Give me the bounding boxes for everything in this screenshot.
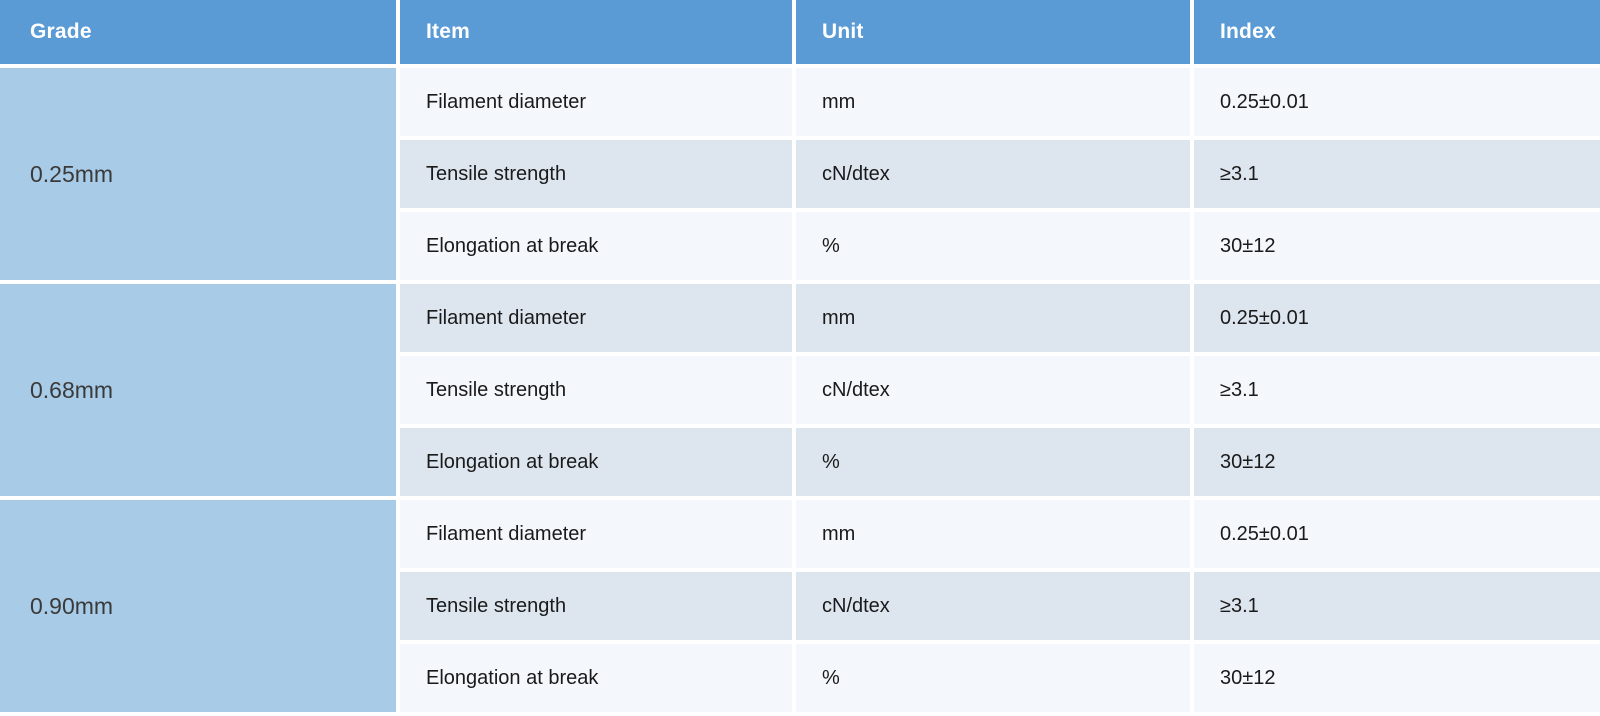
cell-item: Elongation at break: [400, 212, 792, 280]
cell-unit: %: [796, 644, 1190, 712]
cell-index: ≥3.1: [1194, 572, 1600, 640]
cell-unit: mm: [796, 284, 1190, 352]
column-header-index: Index: [1194, 0, 1600, 64]
table-row: 0.90mm Filament diameter mm 0.25±0.01: [0, 500, 1600, 568]
cell-index: 0.25±0.01: [1194, 68, 1600, 136]
cell-index: 30±12: [1194, 212, 1600, 280]
cell-item: Tensile strength: [400, 356, 792, 424]
grade-cell: 0.68mm: [0, 284, 396, 496]
cell-index: ≥3.1: [1194, 140, 1600, 208]
table-row: 0.68mm Filament diameter mm 0.25±0.01: [0, 284, 1600, 352]
column-header-item: Item: [400, 0, 792, 64]
cell-item: Elongation at break: [400, 428, 792, 496]
cell-unit: cN/dtex: [796, 140, 1190, 208]
table-body: 0.25mm Filament diameter mm 0.25±0.01 Te…: [0, 68, 1600, 712]
cell-unit: cN/dtex: [796, 572, 1190, 640]
specification-table: Grade Item Unit Index 0.25mm Filament di…: [0, 0, 1600, 716]
cell-index: 30±12: [1194, 428, 1600, 496]
cell-index: 0.25±0.01: [1194, 284, 1600, 352]
cell-unit: cN/dtex: [796, 356, 1190, 424]
cell-item: Tensile strength: [400, 572, 792, 640]
cell-unit: %: [796, 212, 1190, 280]
grade-cell: 0.25mm: [0, 68, 396, 280]
cell-item: Filament diameter: [400, 500, 792, 568]
column-header-unit: Unit: [796, 0, 1190, 64]
table-row: 0.25mm Filament diameter mm 0.25±0.01: [0, 68, 1600, 136]
cell-index: 0.25±0.01: [1194, 500, 1600, 568]
table-header: Grade Item Unit Index: [0, 0, 1600, 64]
cell-index: 30±12: [1194, 644, 1600, 712]
table-header-row: Grade Item Unit Index: [0, 0, 1600, 64]
column-header-grade: Grade: [0, 0, 396, 64]
cell-unit: mm: [796, 68, 1190, 136]
cell-item: Filament diameter: [400, 284, 792, 352]
cell-unit: mm: [796, 500, 1190, 568]
cell-item: Filament diameter: [400, 68, 792, 136]
cell-unit: %: [796, 428, 1190, 496]
cell-index: ≥3.1: [1194, 356, 1600, 424]
cell-item: Tensile strength: [400, 140, 792, 208]
cell-item: Elongation at break: [400, 644, 792, 712]
grade-cell: 0.90mm: [0, 500, 396, 712]
